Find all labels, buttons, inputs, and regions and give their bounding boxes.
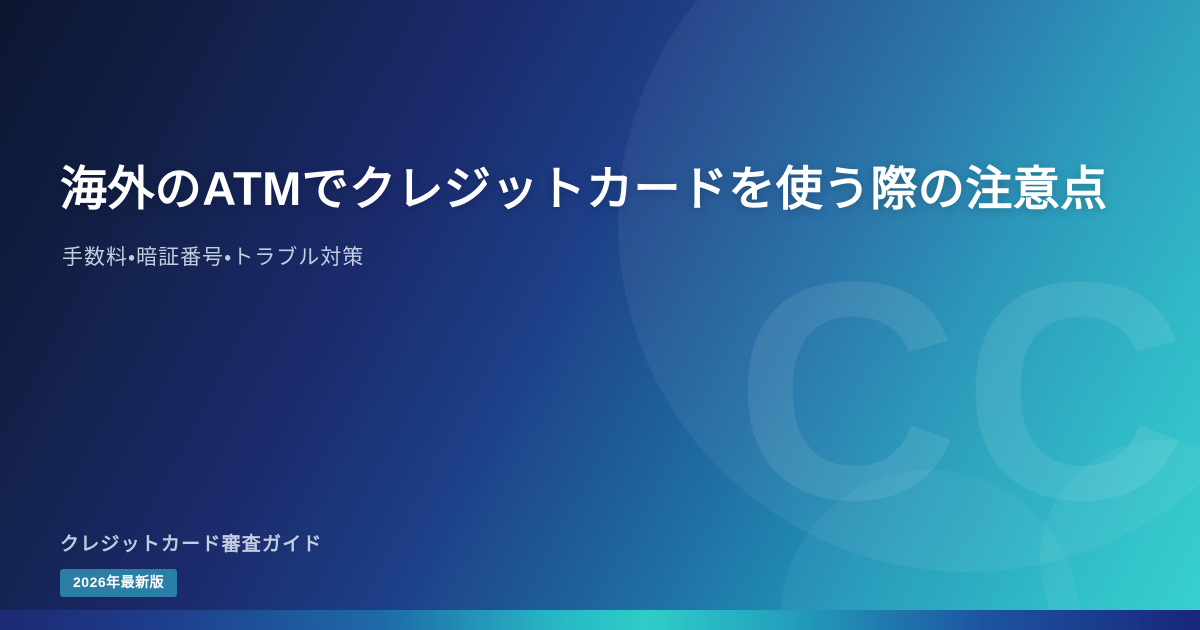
brand-name: クレジットカード審査ガイド <box>60 534 323 557</box>
page-subtitle: 手数料・暗証番号・トラブル対策 <box>62 243 364 272</box>
status-badge: 2026年最新版 <box>60 569 177 597</box>
page-title: 海外のATMでクレジットカードを使う際の注意点 <box>60 160 1108 219</box>
bottom-accent-bar <box>0 610 1200 630</box>
content-block: 海外のATMでクレジットカードを使う際の注意点 手数料・暗証番号・トラブル対策 … <box>60 0 1140 630</box>
ogp-card: CC 海外のATMでクレジットカードを使う際の注意点 手数料・暗証番号・トラブル… <box>0 0 1200 630</box>
footer: クレジットカード審査ガイド 2026年最新版 <box>60 534 323 597</box>
